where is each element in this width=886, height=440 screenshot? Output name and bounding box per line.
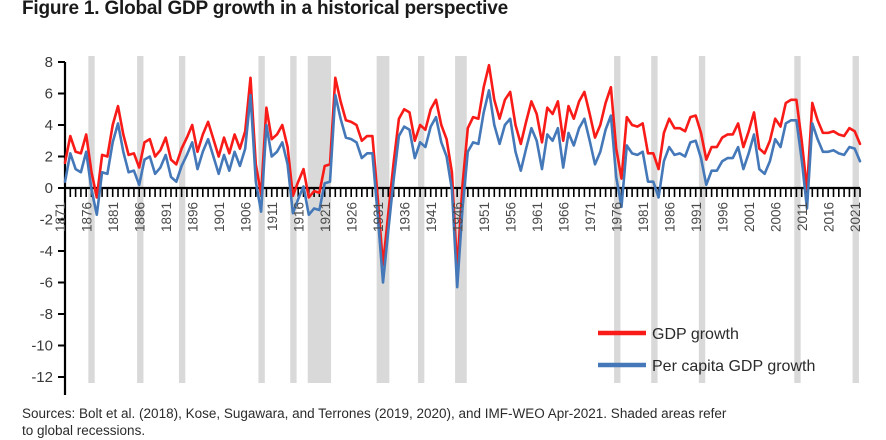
y-tick-label: -4 <box>40 243 53 260</box>
source-line-1: Sources: Bolt et al. (2018), Kose, Sugaw… <box>22 405 872 422</box>
y-tick-label: -8 <box>40 306 53 323</box>
y-tick-label: -10 <box>31 338 53 355</box>
x-tick-label: 1901 <box>212 202 227 232</box>
source-line-2: to global recessions. <box>22 422 872 439</box>
x-tick-label: 1871 <box>53 202 68 232</box>
y-tick-label: 2 <box>45 149 53 166</box>
x-tick-label: 1986 <box>663 202 678 232</box>
gdp-growth-line-chart: 86420-2-4-6-8-10-12 18711876188118861891… <box>0 40 886 395</box>
x-tick-label: 1926 <box>345 202 360 232</box>
recession-band <box>258 56 264 383</box>
x-tick-label: 1961 <box>530 202 545 232</box>
x-tick-label: 1966 <box>557 202 572 232</box>
x-tick-label: 1881 <box>106 202 121 232</box>
x-tick-label: 1876 <box>80 202 95 232</box>
x-tick-label: 1951 <box>477 202 492 232</box>
x-tick-label: 1956 <box>504 202 519 232</box>
x-tick-labels: 1871187618811886189118961901190619111916… <box>53 202 863 232</box>
y-tick-label: -2 <box>40 212 53 229</box>
x-tick-label: 1936 <box>398 202 413 232</box>
y-tick-label: 4 <box>45 117 53 134</box>
x-tick-label: 2016 <box>822 202 837 232</box>
y-tick-label: -6 <box>40 275 53 292</box>
x-tick-label: 1991 <box>689 202 704 232</box>
x-tick-label: 1891 <box>159 202 174 232</box>
x-tick-label: 1971 <box>583 202 598 232</box>
x-tick-label: 1911 <box>265 202 280 231</box>
x-tick-label: 1941 <box>424 202 439 232</box>
x-tick-label: 1896 <box>186 202 201 232</box>
y-tick-label: 0 <box>45 180 53 197</box>
chart-area: 86420-2-4-6-8-10-12 18711876188118861891… <box>0 40 886 395</box>
x-tick-label: 1996 <box>716 202 731 232</box>
x-tick-label: 1916 <box>292 202 307 232</box>
page-title: Figure 1. Global GDP growth in a histori… <box>22 0 508 20</box>
recession-band <box>179 56 185 383</box>
x-tick-label: 2021 <box>848 202 863 232</box>
legend-label: GDP growth <box>652 326 739 343</box>
x-tick-label: 1906 <box>239 202 254 232</box>
x-tick-label: 2001 <box>742 202 757 232</box>
x-tick-label: 1886 <box>133 202 148 232</box>
y-tick-label: 6 <box>45 86 53 103</box>
y-tick-label: -12 <box>31 369 53 386</box>
x-tick-label: 1931 <box>371 202 386 232</box>
y-tick-label: 8 <box>45 54 53 71</box>
legend-label: Per capita GDP growth <box>652 358 815 375</box>
x-tick-label: 1946 <box>451 202 466 232</box>
y-tick-labels: 86420-2-4-6-8-10-12 <box>31 54 53 386</box>
x-tick-label: 2006 <box>769 202 784 232</box>
source-note: Sources: Bolt et al. (2018), Kose, Sugaw… <box>22 405 872 439</box>
x-tick-label: 2011 <box>795 202 810 231</box>
chart-legend: GDP growthPer capita GDP growth <box>598 326 815 375</box>
x-tick-label: 1976 <box>610 202 625 232</box>
x-tick-label: 1921 <box>318 202 333 232</box>
x-tick-label: 1981 <box>636 202 651 232</box>
